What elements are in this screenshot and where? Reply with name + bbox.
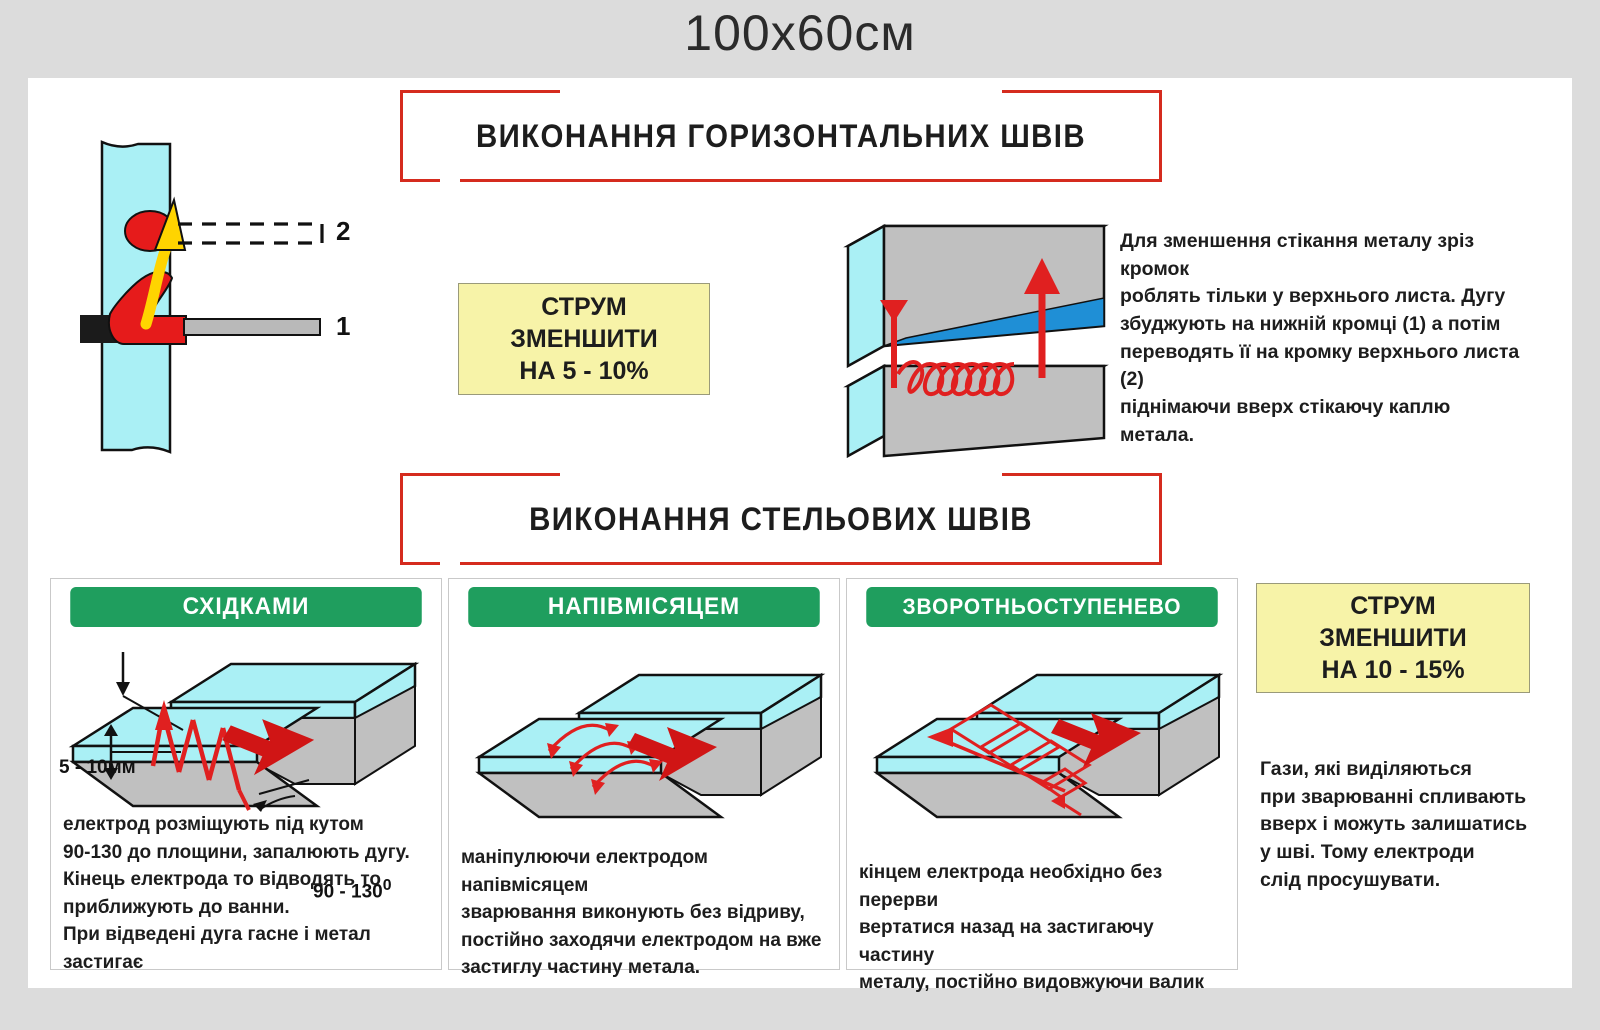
method-panel-crescent: НАПІВМІСЯЦЕМ — [448, 578, 840, 970]
section-header-horizontal: ВИКОНАННЯ ГОРИЗОНТАЛЬНИХ ШВІВ — [400, 90, 1162, 182]
panel-text-line: 90-130 до площини, запалюють дугу. — [63, 839, 433, 867]
panel-header-crescent: НАПІВМІСЯЦЕМ — [468, 587, 820, 627]
panel-text-line: постійно заходячи електродом на вже — [461, 927, 831, 955]
panel-text-line: Кінець електрода то відводять то — [63, 866, 433, 894]
horizontal-description-line3: збуджують на нижній кромці (1) а потім — [1120, 311, 1520, 339]
panel-header-backstep: ЗВОРОТНЬОСТУПЕНЕВО — [866, 587, 1218, 627]
stairs-weave-figure — [63, 634, 433, 814]
current-note-bottom-line3: НА 10 - 15% — [1321, 654, 1464, 686]
current-note-top-line1: СТРУМ — [541, 291, 626, 323]
gas-note: Гази, які виділяються при зварюванні спл… — [1260, 756, 1560, 894]
panel-text-line: маніпулюючи електродом напівмісяцем — [461, 844, 831, 899]
panel-text-crescent: маніпулюючи електродом напівмісяцем звар… — [461, 844, 831, 982]
current-note-top: СТРУМ ЗМЕНШИТИ НА 5 - 10% — [458, 283, 710, 395]
electrode-label-2: 2 — [336, 216, 350, 247]
panel-text-backstep: кінцем електрода необхідно без перерви в… — [859, 859, 1229, 997]
panel-text-line: електрод розміщують під кутом — [63, 811, 433, 839]
horizontal-description: Для зменшення стікання металу зріз кромо… — [1120, 228, 1520, 450]
section-header-overhead: ВИКОНАННЯ СТЕЛЬОВИХ ШВІВ — [400, 473, 1162, 565]
panel-text-line: металу, постійно видовжуючи валик — [859, 969, 1229, 997]
current-note-top-line3: НА 5 - 10% — [519, 355, 648, 387]
panel-text-line: вертатися назад на застигаючу частину — [859, 914, 1229, 969]
current-note-bottom-line1: СТРУМ — [1350, 590, 1435, 622]
horizontal-description-line4: переводять її на кромку верхнього листа … — [1120, 339, 1520, 394]
poster-size-title: 100x60см — [0, 4, 1600, 62]
panel-text-line: приближують до ванни. — [63, 894, 433, 922]
crescent-weave-figure — [471, 651, 831, 821]
horizontal-description-line5: піднімаючи вверх стікаючу каплю метала. — [1120, 394, 1520, 449]
gas-note-line4: у шві. Тому електроди — [1260, 839, 1560, 867]
gas-note-line2: при зварюванні спливають — [1260, 784, 1560, 812]
electrode-label-1: 1 — [336, 311, 350, 342]
horizontal-joint-3d-figure — [836, 188, 1146, 458]
current-note-bottom-line2: ЗМЕНШИТИ — [1319, 622, 1467, 654]
stairs-dimension-label: 5 - 10мм — [59, 757, 136, 779]
panel-header-stairs: СХІДКАМИ — [70, 587, 422, 627]
current-note-bottom: СТРУМ ЗМЕНШИТИ НА 10 - 15% — [1256, 583, 1530, 693]
electrode-vertical-figure: 2 1 — [58, 138, 358, 458]
panel-text-stairs: електрод розміщують під кутом 90-130 до … — [63, 811, 433, 976]
gas-note-line5: слід просушувати. — [1260, 867, 1560, 895]
section-title-overhead: ВИКОНАННЯ СТЕЛЬОВИХ ШВІВ — [430, 473, 1131, 565]
gas-note-line3: вверх і можуть залишатись — [1260, 811, 1560, 839]
horizontal-description-line2: роблять тільки у верхнього листа. Дугу — [1120, 283, 1520, 311]
current-note-top-line2: ЗМЕНШИТИ — [510, 323, 658, 355]
section-title-horizontal: ВИКОНАННЯ ГОРИЗОНТАЛЬНИХ ШВІВ — [430, 90, 1131, 182]
panel-text-line: кінцем електрода необхідно без перерви — [859, 859, 1229, 914]
backstep-weave-figure — [869, 651, 1229, 831]
poster-board: ВИКОНАННЯ ГОРИЗОНТАЛЬНИХ ШВІВ 2 1 — [28, 78, 1572, 988]
panel-text-line: зварювання виконують без відриву, — [461, 899, 831, 927]
method-panel-stairs: СХІДКАМИ — [50, 578, 442, 970]
gas-note-line1: Гази, які виділяються — [1260, 756, 1560, 784]
horizontal-description-line1: Для зменшення стікання металу зріз кромо… — [1120, 228, 1520, 283]
panel-text-line: застиглу частину метала. — [461, 954, 831, 982]
method-panel-backstep: ЗВОРОТНЬОСТУПЕНЕВО — [846, 578, 1238, 970]
panel-text-line: При відведені дуга гасне і метал застига… — [63, 921, 433, 976]
